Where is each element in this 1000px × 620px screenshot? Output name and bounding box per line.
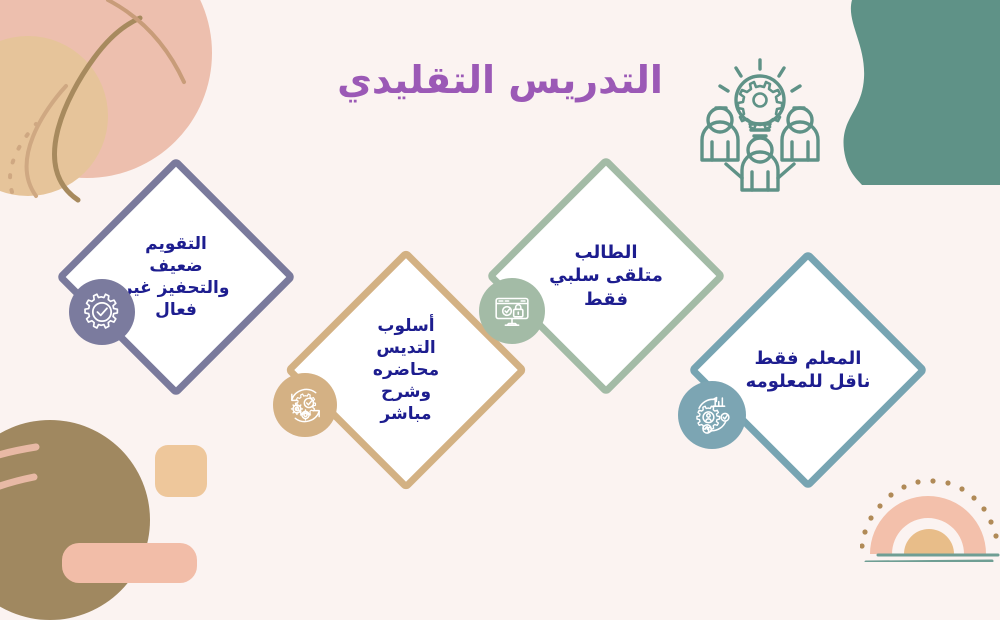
lightbulb-gear-people-icon (686, 52, 834, 192)
badge-gear-person-chart[interactable] (678, 381, 746, 449)
card-assessment-line-1: التقويم (145, 233, 207, 255)
card-teaching-style-line-3: محاضره (373, 359, 439, 381)
card-teaching-style-line-4: وشرح (381, 381, 431, 403)
card-teaching-style[interactable]: أسلوب التديس محاضره وشرح مباشر (320, 284, 492, 456)
card-student-role[interactable]: الطالب متلقى سلبي فقط (521, 191, 691, 361)
gears-cycle-icon (285, 385, 326, 426)
gear-person-chart-clock-icon (691, 394, 734, 437)
bottom-left-circle-shape (0, 420, 150, 620)
bottom-left-pill-shape (62, 543, 197, 583)
badge-gear-check[interactable] (69, 279, 135, 345)
badge-monitor-lock[interactable] (479, 278, 545, 344)
badge-gears-cycle[interactable] (273, 373, 337, 437)
card-assessment-line-3: والتحفيز غير (123, 277, 230, 299)
card-assessment-line-2: ضعيف (149, 255, 202, 277)
card-student-role-line-3: فقط (584, 288, 628, 311)
card-student-role-text: الطالب متلقى سلبي فقط (521, 191, 691, 361)
bottom-left-rounded-square-shape (155, 445, 207, 497)
card-teacher-role-line-2: ناقل للمعلومه (746, 370, 871, 393)
card-teacher-role-text: المعلم فقط ناقل للمعلومه (723, 285, 893, 455)
gear-check-icon (82, 292, 122, 332)
slide-canvas: التدريس التقليدي (0, 0, 1000, 562)
card-student-role-line-2: متلقى سلبي (549, 264, 663, 287)
card-teaching-style-line-1: أسلوب (377, 315, 434, 337)
card-teacher-role-line-1: المعلم فقط (755, 347, 862, 370)
slide-title: التدريس التقليدي (0, 58, 1000, 102)
bottom-left-arc-lines (0, 425, 120, 565)
card-assessment-line-4: فعال (155, 299, 197, 321)
bottom-right-rainbow-shape (860, 442, 1000, 562)
card-teaching-style-line-5: مباشر (380, 403, 431, 425)
monitor-lock-check-icon (492, 291, 532, 331)
card-student-role-line-1: الطالب (574, 241, 637, 264)
card-teacher-role[interactable]: المعلم فقط ناقل للمعلومه (723, 285, 893, 455)
card-teaching-style-text: أسلوب التديس محاضره وشرح مباشر (320, 284, 492, 456)
card-teaching-style-line-2: التديس (376, 337, 435, 359)
